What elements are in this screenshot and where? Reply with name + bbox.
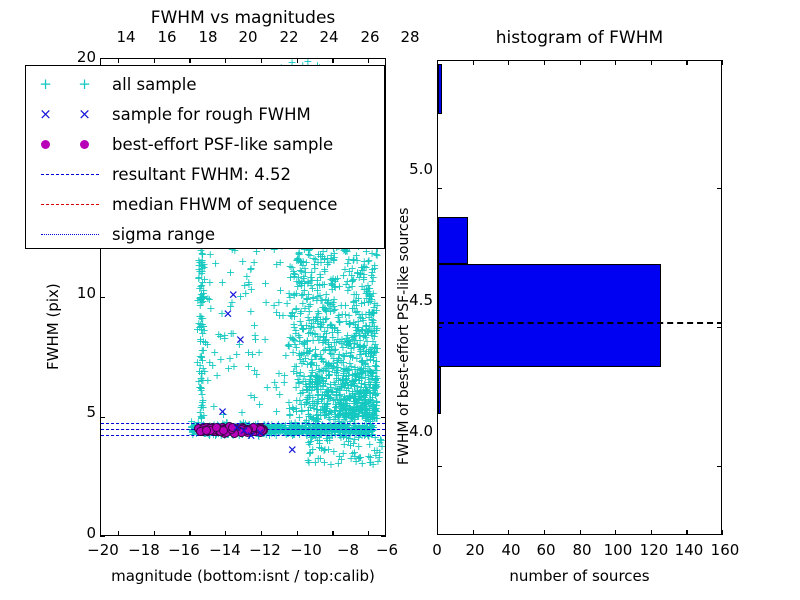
figure-canvas: FWHM vs magnitudes 14 16 18 20 22 24 26 …: [0, 0, 800, 600]
scatter-point-rough-fwhm: ✕: [223, 308, 233, 320]
dashed-line-icon: [41, 174, 99, 175]
right-yaxis-label: FWHM of best-effort PSF-like sources: [396, 208, 412, 465]
right-panel-title: histogram of FWHM: [437, 28, 722, 48]
axis-tick: [508, 60, 509, 65]
scatter-point-all-sample: +: [371, 450, 380, 461]
x-marker-icon: ×: [78, 107, 91, 122]
scatter-point-all-sample: +: [246, 263, 255, 274]
scatter-point-all-sample: +: [272, 259, 281, 270]
scatter-point-rough-fwhm: ✕: [287, 444, 297, 456]
axis-tick: [100, 58, 105, 59]
ytick-20: 20: [66, 48, 96, 66]
scatter-point-all-sample: +: [363, 361, 372, 372]
legend-label: sample for rough FWHM: [104, 105, 311, 124]
legend-item-median-fwhm[interactable]: median FHWM of sequence: [26, 189, 384, 219]
scatter-point-all-sample: +: [331, 402, 340, 413]
hist-xtick-140: 140: [669, 541, 709, 559]
scatter-point-all-sample: +: [334, 458, 343, 469]
scatter-point-all-sample: +: [283, 298, 292, 309]
dashdot-line-icon: [41, 234, 99, 235]
legend-item-all-sample[interactable]: + + all sample: [26, 69, 384, 99]
scatter-point-all-sample: +: [246, 390, 255, 401]
scatter-point-all-sample: +: [198, 266, 207, 277]
scatter-point-all-sample: +: [216, 331, 225, 342]
xtick-bot-7: −6: [369, 541, 405, 559]
hist-xtick-20: 20: [459, 541, 491, 559]
scatter-point-all-sample: +: [361, 379, 370, 390]
xtick-top-4: 22: [273, 28, 305, 46]
histogram-median-line: [438, 322, 721, 324]
axis-tick: [368, 531, 369, 536]
scatter-point-all-sample: +: [360, 284, 369, 295]
scatter-point-all-sample: +: [320, 444, 329, 455]
scatter-point-all-sample: +: [203, 375, 212, 386]
xtick-top-5: 24: [313, 28, 345, 46]
dashed-line-icon: [41, 204, 99, 205]
scatter-point-all-sample: +: [197, 313, 206, 324]
axis-tick: [118, 58, 119, 63]
axis-tick: [100, 297, 105, 298]
scatter-point-all-sample: +: [344, 370, 353, 381]
legend-marker-group: [26, 140, 104, 149]
xtick-top-1: 16: [151, 28, 183, 46]
scatter-point-all-sample: +: [305, 250, 314, 261]
xtick-bot-3: −14: [205, 541, 245, 559]
scatter-point-psf-like: [202, 426, 211, 435]
scatter-point-all-sample: +: [314, 308, 323, 319]
scatter-point-all-sample: +: [216, 354, 225, 365]
axis-tick: [261, 58, 262, 63]
xtick-bot-2: −16: [164, 541, 204, 559]
scatter-point-all-sample: +: [370, 321, 379, 332]
scatter-point-all-sample: +: [351, 295, 360, 306]
axis-tick: [722, 530, 723, 535]
scatter-point-all-sample: +: [255, 399, 264, 410]
scatter-point-all-sample: +: [206, 249, 215, 260]
legend-marker-group: [26, 234, 104, 235]
scatter-point-all-sample: +: [255, 347, 264, 358]
xtick-top-2: 18: [192, 28, 224, 46]
scatter-point-all-sample: +: [304, 457, 313, 468]
axis-tick: [686, 530, 687, 535]
scatter-point-all-sample: +: [262, 297, 271, 308]
hist-xtick-160: 160: [705, 541, 745, 559]
scatter-point-all-sample: +: [261, 278, 270, 289]
scatter-point-all-sample: +: [280, 370, 289, 381]
axis-tick: [381, 58, 386, 59]
scatter-point-all-sample: +: [365, 395, 374, 406]
scatter-point-all-sample: +: [319, 376, 328, 387]
histogram-bar: [438, 264, 661, 367]
hist-xtick-80: 80: [566, 541, 598, 559]
legend-item-sigma-range[interactable]: sigma range: [26, 219, 384, 249]
legend-item-rough-fwhm[interactable]: × × sample for rough FWHM: [26, 99, 384, 129]
scatter-point-all-sample: +: [250, 320, 259, 331]
legend-marker-group: [26, 174, 104, 175]
scatter-point-all-sample: +: [363, 411, 372, 422]
axis-tick: [437, 188, 442, 189]
axis-tick: [261, 531, 262, 536]
scatter-point-all-sample: +: [263, 382, 272, 393]
legend-label: sigma range: [104, 225, 215, 244]
legend-label: all sample: [104, 75, 197, 94]
hist-xtick-40: 40: [495, 541, 527, 559]
axis-tick: [368, 58, 369, 63]
scatter-point-rough-fwhm: ✕: [232, 422, 242, 434]
axis-tick: [100, 417, 105, 418]
scatter-point-all-sample: +: [237, 407, 246, 418]
dot-marker-icon: [80, 140, 89, 149]
axis-tick: [297, 531, 298, 536]
axis-tick: [473, 60, 474, 65]
legend-label: median FHWM of sequence: [104, 195, 337, 214]
axis-tick: [473, 530, 474, 535]
legend-item-resultant-fwhm[interactable]: resultant FWHM: 4.52: [26, 159, 384, 189]
scatter-point-all-sample: +: [368, 264, 377, 275]
axis-tick: [225, 531, 226, 536]
plot-legend: + + all sample × × sample for rough FWHM…: [25, 65, 385, 249]
xtick-top-3: 20: [232, 28, 264, 46]
axis-tick: [100, 536, 105, 537]
scatter-point-all-sample: +: [294, 378, 303, 389]
plus-marker-icon: +: [78, 77, 91, 92]
hist-xtick-100: 100: [598, 541, 638, 559]
xtick-bot-1: −18: [124, 541, 164, 559]
scatter-point-all-sample: +: [287, 262, 296, 273]
axis-tick: [381, 417, 386, 418]
ytick-10: 10: [66, 284, 96, 302]
axis-tick: [686, 60, 687, 65]
hist-xtick-0: 0: [425, 541, 449, 559]
dot-marker-icon: [41, 140, 50, 149]
scatter-point-all-sample: +: [324, 337, 333, 348]
axis-tick: [544, 60, 545, 65]
scatter-point-all-sample: +: [289, 319, 298, 330]
scatter-point-all-sample: +: [290, 361, 299, 372]
axis-tick: [225, 58, 226, 63]
scatter-point-rough-fwhm: ✕: [228, 289, 238, 301]
scatter-point-all-sample: +: [272, 406, 281, 417]
xtick-bot-0: −20: [83, 541, 123, 559]
scatter-point-all-sample: +: [355, 335, 364, 346]
scatter-point-all-sample: +: [327, 278, 336, 289]
legend-label: best-effort PSF-like sample: [104, 135, 333, 154]
scatter-point-all-sample: +: [203, 293, 212, 304]
axis-tick: [118, 531, 119, 536]
axis-tick: [189, 531, 190, 536]
scatter-point-all-sample: +: [232, 349, 241, 360]
scatter-point-all-sample: +: [369, 379, 378, 390]
ytick-0: 0: [66, 524, 96, 542]
scatter-point-all-sample: +: [244, 347, 253, 358]
scatter-point-all-sample: +: [348, 352, 357, 363]
scatter-point-all-sample: +: [342, 410, 351, 421]
scatter-point-all-sample: +: [290, 335, 299, 346]
scatter-point-all-sample: +: [226, 267, 235, 278]
left-yaxis-label: FWHM (pix): [44, 283, 62, 370]
legend-marker-group: [26, 204, 104, 205]
axis-tick: [154, 531, 155, 536]
scatter-point-all-sample: +: [297, 399, 306, 410]
axis-tick: [437, 530, 438, 535]
scatter-point-all-sample: +: [197, 351, 206, 362]
axis-tick: [651, 530, 652, 535]
axis-tick: [651, 60, 652, 65]
scatter-point-all-sample: +: [251, 334, 260, 345]
scatter-point-all-sample: +: [326, 299, 335, 310]
histogram-bar: [438, 64, 442, 114]
axis-tick: [297, 58, 298, 63]
scatter-point-all-sample: +: [246, 306, 255, 317]
scatter-point-all-sample: +: [300, 339, 309, 350]
xtick-bot-6: −8: [330, 541, 366, 559]
left-xaxis-label: magnitude (bottom:isnt / top:calib): [100, 567, 386, 585]
axis-tick: [189, 58, 190, 63]
legend-item-psf-like[interactable]: best-effort PSF-like sample: [26, 129, 384, 159]
scatter-point-rough-fwhm: ✕: [218, 406, 228, 418]
scatter-point-rough-fwhm: ✕: [255, 427, 265, 439]
scatter-point-all-sample: +: [196, 407, 205, 418]
xtick-bot-4: −12: [245, 541, 285, 559]
axis-tick: [437, 327, 442, 328]
left-panel-title: FWHM vs magnitudes: [100, 8, 386, 28]
axis-tick: [544, 530, 545, 535]
scatter-point-all-sample: +: [317, 353, 326, 364]
scatter-point-all-sample: +: [354, 309, 363, 320]
xtick-top-7: 28: [394, 28, 426, 46]
scatter-point-all-sample: +: [340, 439, 349, 450]
scatter-point-all-sample: +: [354, 441, 363, 452]
axis-tick: [437, 466, 442, 467]
hist-ytick-5p0: 5.0: [395, 160, 433, 178]
scatter-point-all-sample: +: [295, 412, 304, 423]
x-marker-icon: ×: [39, 107, 52, 122]
histogram-plot-area: [438, 61, 721, 534]
scatter-point-all-sample: +: [352, 255, 361, 266]
axis-tick: [717, 466, 722, 467]
axis-tick: [332, 58, 333, 63]
xtick-top-6: 26: [354, 28, 386, 46]
axis-tick: [580, 60, 581, 65]
scatter-point-all-sample: +: [275, 389, 284, 400]
legend-marker-group: × ×: [26, 107, 104, 122]
scatter-point-all-sample: +: [241, 288, 250, 299]
scatter-point-all-sample: +: [205, 357, 214, 368]
histogram-bar: [438, 367, 441, 414]
scatter-point-all-sample: +: [306, 436, 315, 447]
histogram-bar: [438, 217, 468, 264]
axis-tick: [615, 60, 616, 65]
scatter-point-all-sample: +: [329, 254, 338, 265]
axis-tick: [437, 60, 438, 65]
scatter-point-all-sample: +: [281, 350, 290, 361]
axis-tick: [508, 530, 509, 535]
axis-tick: [615, 530, 616, 535]
right-xaxis-label: number of sources: [437, 567, 722, 585]
xtick-bot-5: −10: [286, 541, 326, 559]
ytick-5: 5: [66, 403, 96, 421]
scatter-point-all-sample: +: [212, 370, 221, 381]
axis-tick: [722, 60, 723, 65]
xtick-top-0: 14: [110, 28, 142, 46]
axis-tick: [332, 531, 333, 536]
scatter-point-all-sample: +: [260, 334, 269, 345]
axis-tick: [381, 297, 386, 298]
legend-label: resultant FWHM: 4.52: [104, 165, 291, 184]
axis-tick: [580, 530, 581, 535]
scatter-point-all-sample: +: [307, 370, 316, 381]
axis-tick: [717, 188, 722, 189]
plus-marker-icon: +: [39, 77, 52, 92]
scatter-point-rough-fwhm: ✕: [235, 334, 245, 346]
scatter-point-all-sample: +: [275, 310, 284, 321]
hist-xtick-60: 60: [530, 541, 562, 559]
scatter-point-all-sample: +: [292, 288, 301, 299]
legend-marker-group: + +: [26, 77, 104, 92]
scatter-point-all-sample: +: [351, 322, 360, 333]
hist-xtick-120: 120: [634, 541, 674, 559]
axis-tick: [381, 536, 386, 537]
scatter-point-all-sample: +: [252, 369, 261, 380]
scatter-point-all-sample: +: [333, 362, 342, 373]
scatter-point-all-sample: +: [295, 247, 304, 258]
scatter-point-all-sample: +: [302, 294, 311, 305]
axis-tick: [154, 58, 155, 63]
axis-tick: [717, 327, 722, 328]
